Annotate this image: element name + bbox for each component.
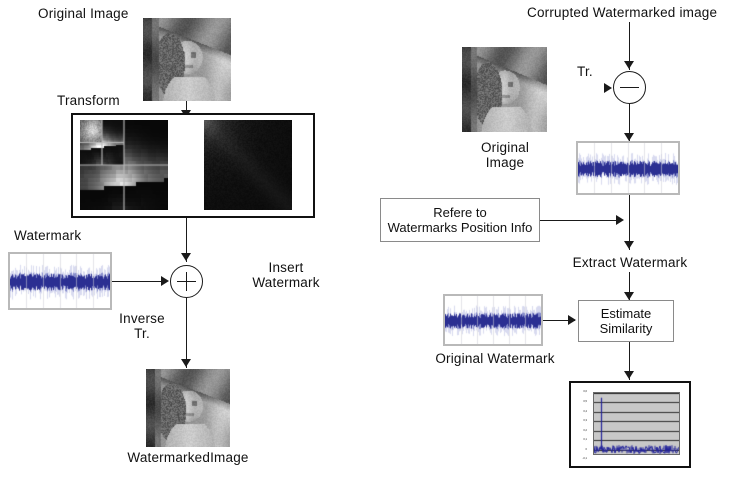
original-image-thumbnail-right <box>462 47 547 132</box>
inverse-transform-label: Inverse Tr. <box>106 311 178 341</box>
original-watermark-label: Original Watermark <box>425 351 565 366</box>
connector-reference-to-extract <box>540 220 622 221</box>
arrow-corrupted-to-subtractor <box>624 61 634 69</box>
plus-horizontal-bar <box>177 281 197 282</box>
insert-watermark-label: Insert Watermark <box>231 260 341 290</box>
connector-watermark-to-adder <box>112 281 167 282</box>
extract-watermark-label: Extract Watermark <box>555 255 705 270</box>
arrow-watermark-to-adder <box>161 276 169 286</box>
original-image-thumbnail <box>143 18 231 101</box>
arrow-original-into-subtractor <box>604 83 612 93</box>
watermarked-image-label: WatermarkedImage <box>108 450 268 465</box>
minus-horizontal-bar <box>620 87 640 88</box>
arrow-subtractor-to-extracted <box>624 133 634 141</box>
watermarked-image-thumbnail <box>146 369 230 447</box>
subtract-operator <box>613 71 646 104</box>
chart-y-tick-label: -0,1 <box>567 457 587 460</box>
transform-short-label: Tr. <box>577 64 593 79</box>
transform-label: Transform <box>57 93 120 108</box>
watermark-label-left: Watermark <box>14 228 81 243</box>
connector-adder-to-watermarked <box>186 298 187 368</box>
similarity-result-chart: 0,60,50,40,30,20,10-0,1 <box>569 381 691 468</box>
chart-y-tick-label: 0,5 <box>567 400 587 403</box>
reference-position-info-label: Refere to Watermarks Position Info <box>381 199 539 241</box>
chart-y-tick-label: 0,4 <box>567 410 587 413</box>
arrow-adder-to-watermarked <box>181 359 191 367</box>
arrow-original-watermark-to-similarity <box>568 315 576 325</box>
arrow-extract-to-similarity <box>624 292 634 300</box>
diagram-canvas: Original Image Transform Watermark Inser… <box>0 0 740 477</box>
insert-watermark-operator <box>170 265 203 298</box>
estimate-similarity-box: Estimate Similarity <box>578 300 674 342</box>
chart-y-tick-label: 0 <box>567 448 587 451</box>
original-image-label-right: Original Image <box>459 140 551 170</box>
reference-position-info-box: Refere to Watermarks Position Info <box>380 198 540 242</box>
arrow-extracted-down <box>624 241 634 249</box>
original-watermark-thumbnail <box>443 294 543 346</box>
watermark-signal-thumbnail <box>8 252 112 310</box>
arrow-similarity-to-chart <box>624 371 634 379</box>
similarity-chart-plot-area <box>593 392 680 455</box>
chart-y-tick-label: 0,3 <box>567 419 587 422</box>
arrow-reference-to-extract <box>616 215 624 225</box>
chart-y-tick-label: 0,1 <box>567 438 587 441</box>
wavelet-subband-decomposition-icon <box>80 120 168 210</box>
arrow-transform-to-adder <box>181 253 191 261</box>
corrupted-watermarked-image-label: Corrupted Watermarked image <box>527 5 717 20</box>
extracted-watermark-thumbnail <box>576 141 680 195</box>
original-image-label-left: Original Image <box>38 6 129 21</box>
estimate-similarity-label: Estimate Similarity <box>579 301 673 341</box>
plus-vertical-bar <box>186 272 187 292</box>
chart-y-tick-label: 0,2 <box>567 429 587 432</box>
chart-y-tick-label: 0,6 <box>567 390 587 393</box>
transform-spectrum-icon <box>204 120 292 210</box>
